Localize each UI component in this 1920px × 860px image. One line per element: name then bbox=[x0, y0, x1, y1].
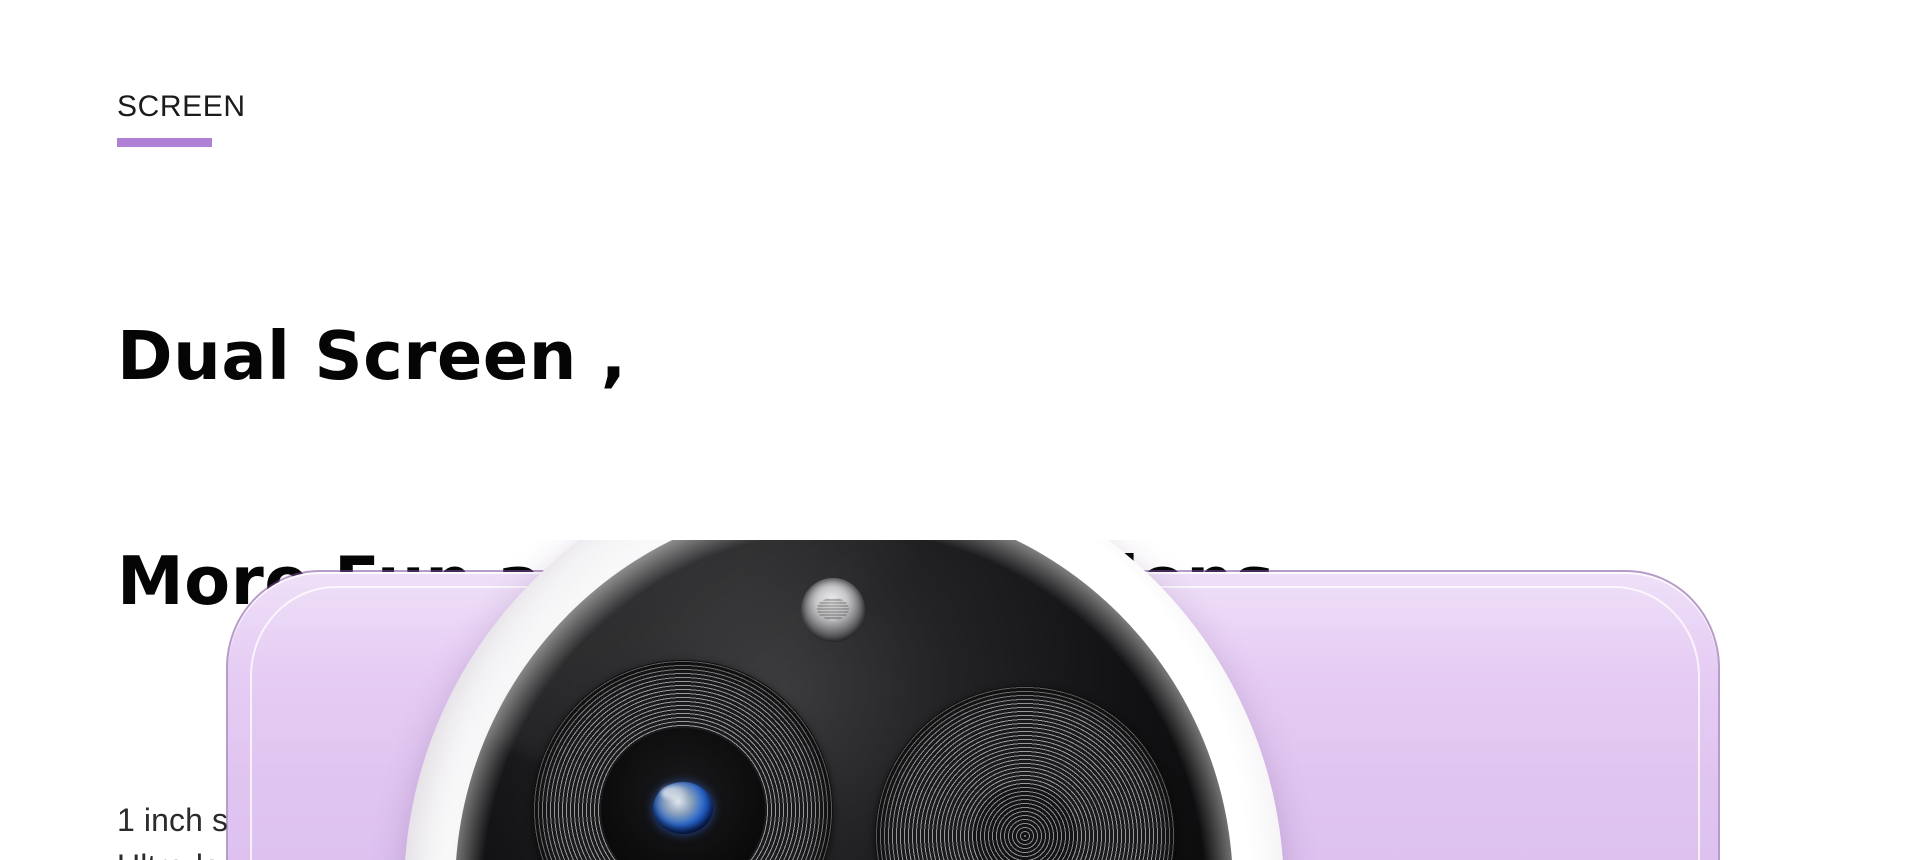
main-lens-glass bbox=[653, 782, 713, 834]
main-lens-core bbox=[601, 728, 765, 860]
secondary-lens-core bbox=[973, 784, 1077, 860]
camera-flash-icon bbox=[801, 578, 865, 642]
section-eyebrow: SCREEN bbox=[117, 92, 1317, 122]
headline-line-1: Dual Screen , bbox=[117, 319, 1317, 394]
feature-section: SCREEN Dual Screen , More Fun and More F… bbox=[0, 0, 1920, 860]
main-camera-lens-icon bbox=[533, 660, 833, 860]
secondary-camera-lens-icon bbox=[875, 686, 1175, 860]
eyebrow-accent-rule bbox=[117, 138, 212, 147]
product-image: TIME CUBE 02.09 Wed 100% 12 34 bbox=[0, 540, 1920, 860]
